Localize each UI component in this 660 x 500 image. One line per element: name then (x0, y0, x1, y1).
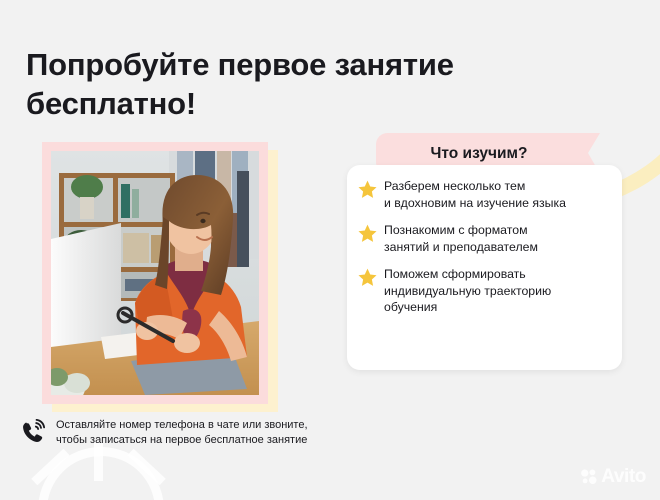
list-item-text: Познакомим с форматом занятий и преподав… (384, 222, 538, 255)
photo-frame (42, 142, 268, 404)
ring-stem-decor (94, 441, 103, 481)
list-item: Поможем сформировать индивидуальную трае… (357, 266, 608, 316)
footer-cta: Оставляйте номер телефона в чате или зво… (20, 418, 308, 447)
features-card: Разберем несколько тем и вдохновим на из… (347, 165, 622, 370)
star-icon (357, 267, 378, 288)
features-list: Разберем несколько тем и вдохновим на из… (357, 178, 608, 316)
avito-logo-icon (580, 468, 597, 485)
list-item-text: Поможем сформировать индивидуальную трае… (384, 266, 551, 316)
list-item: Познакомим с форматом занятий и преподав… (357, 222, 608, 255)
list-item: Разберем несколько тем и вдохновим на из… (357, 178, 608, 211)
page-title: Попробуйте первое занятие бесплатно! (26, 45, 466, 123)
footer-text: Оставляйте номер телефона в чате или зво… (56, 418, 308, 447)
avito-logo-text: Avito (601, 467, 646, 486)
student-photo-illustration (51, 151, 259, 395)
star-icon (357, 223, 378, 244)
star-icon (357, 179, 378, 200)
list-item-text: Разберем несколько тем и вдохновим на из… (384, 178, 566, 211)
promo-banner: Попробуйте первое занятие бесплатно! (0, 0, 660, 500)
phone-ring-icon (20, 419, 47, 446)
photo-image (51, 151, 259, 395)
avito-watermark: Avito (580, 467, 646, 486)
